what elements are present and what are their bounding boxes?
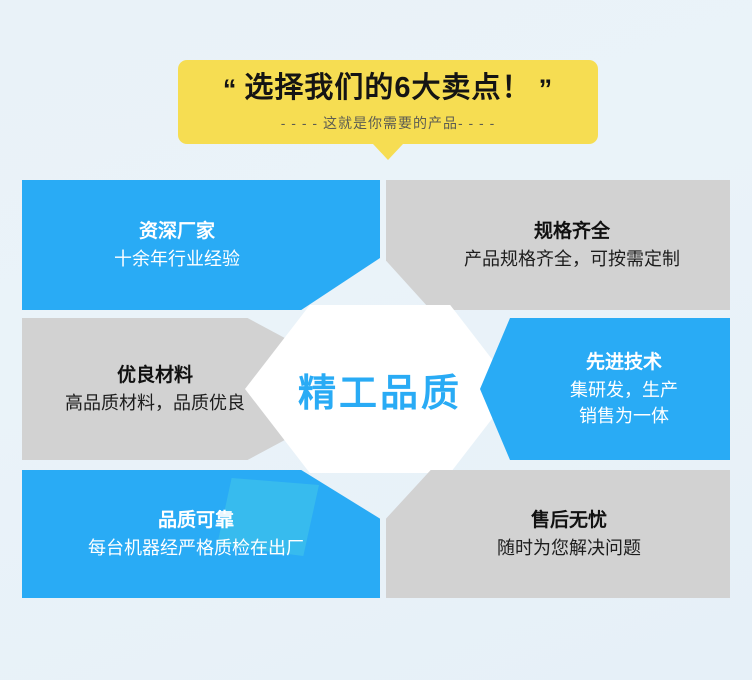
feature-desc: 每台机器经严格质检在出厂 (88, 536, 304, 560)
feature-title: 先进技术 (586, 350, 662, 376)
banner-title: “ 选择我们的6大卖点！ ” (223, 74, 553, 103)
feature-card-bottom-right[interactable]: 售后无忧 随时为您解决问题 (386, 470, 730, 598)
feature-text-block: 售后无忧 随时为您解决问题 (497, 508, 641, 560)
feature-text-block: 品质可靠 每台机器经严格质检在出厂 (88, 508, 304, 560)
feature-card-top-left[interactable]: 资深厂家 十余年行业经验 (22, 180, 380, 310)
feature-desc: 十余年行业经验 (114, 247, 240, 271)
feature-text-block: 先进技术 集研发，生产 销售为一体 (570, 350, 678, 428)
feature-desc: 产品规格齐全，可按需定制 (464, 247, 680, 271)
center-emblem: 精工品质 (245, 305, 515, 473)
feature-desc: 高品质材料，品质优良 (65, 391, 245, 415)
feature-text-block: 优良材料 高品质材料，品质优良 (65, 363, 245, 415)
close-quote-icon: ” (539, 76, 554, 103)
feature-card-middle-right[interactable]: 先进技术 集研发，生产 销售为一体 (480, 318, 730, 460)
feature-title: 规格齐全 (534, 219, 610, 245)
feature-desc: 随时为您解决问题 (497, 536, 641, 560)
feature-text-block: 资深厂家 十余年行业经验 (114, 219, 240, 271)
feature-text-block: 规格齐全 产品规格齐全，可按需定制 (464, 219, 680, 271)
feature-desc: 集研发，生产 (570, 378, 678, 402)
feature-title: 品质可靠 (158, 508, 234, 534)
banner-body: “ 选择我们的6大卖点！ ” - - - - 这就是你需要的产品- - - - (178, 60, 598, 144)
promo-page: “ 选择我们的6大卖点！ ” - - - - 这就是你需要的产品- - - - … (0, 0, 752, 680)
feature-title: 优良材料 (117, 363, 193, 389)
banner-title-text: 选择我们的6大卖点！ (244, 74, 531, 103)
center-emblem-text: 精工品质 (298, 362, 462, 417)
open-quote-icon: “ (223, 76, 238, 103)
feature-card-top-right[interactable]: 规格齐全 产品规格齐全，可按需定制 (386, 180, 730, 310)
feature-title: 资深厂家 (139, 219, 215, 245)
banner-pointer-icon (373, 144, 403, 160)
banner-subtitle: - - - - 这就是你需要的产品- - - - (281, 113, 496, 133)
feature-title: 售后无忧 (531, 508, 607, 534)
feature-card-bottom-left[interactable]: 品质可靠 每台机器经严格质检在出厂 (22, 470, 380, 598)
header-banner: “ 选择我们的6大卖点！ ” - - - - 这就是你需要的产品- - - - (178, 60, 598, 144)
feature-desc-line2: 销售为一体 (579, 404, 669, 428)
